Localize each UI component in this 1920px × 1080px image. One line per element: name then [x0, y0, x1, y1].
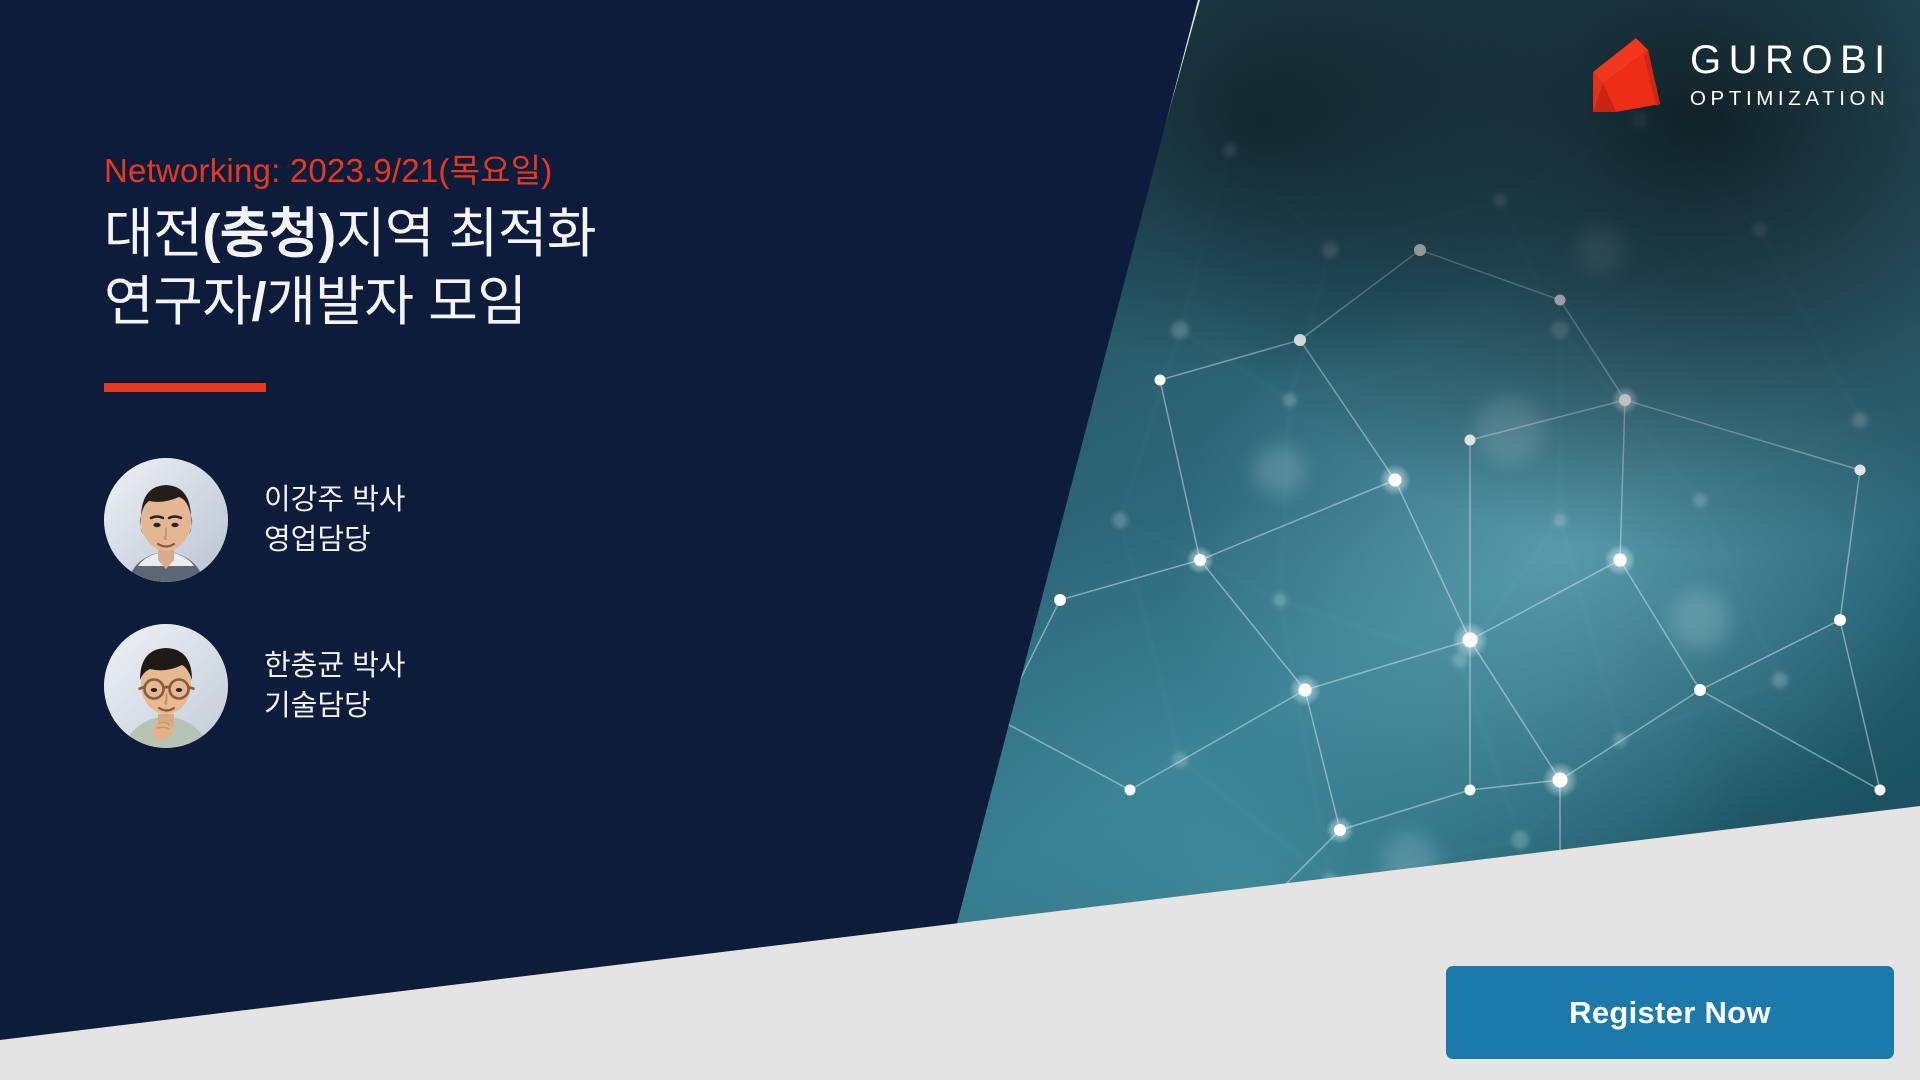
headline-line-1-part-b: (충청): [202, 204, 335, 264]
speaker-role: 영업담당: [264, 520, 405, 560]
list-item: 이강주 박사 영업담당: [104, 458, 405, 582]
speaker-role: 기술담당: [264, 686, 405, 726]
headline-line-1-part-a: 대전: [104, 204, 202, 264]
poster-content: Networking: 2023.9/21(목요일) 대전(충청)지역 최적화 …: [0, 0, 900, 1080]
headline-line-1-part-c: 지역 최적화: [336, 204, 596, 264]
page-title: 대전(충청)지역 최적화 연구자/개발자 모임: [104, 200, 864, 336]
accent-rule: [104, 383, 266, 392]
brand-logo: GUROBI OPTIMIZATION: [1586, 32, 1893, 118]
speaker-list: 이강주 박사 영업담당: [104, 458, 405, 790]
speaker-name: 이강주 박사: [264, 480, 405, 520]
logo-tagline: OPTIMIZATION: [1690, 89, 1893, 110]
headline-line-2-part-a: 연구자: [104, 272, 252, 332]
headline-line-2-part-c: 개발자 모임: [266, 272, 526, 332]
speaker-info: 이강주 박사 영업담당: [264, 480, 405, 560]
register-now-button[interactable]: Register Now: [1446, 966, 1894, 1059]
event-poster: Networking: 2023.9/21(목요일) 대전(충청)지역 최적화 …: [0, 0, 1920, 1080]
list-item: 한충균 박사 기술담당: [104, 624, 405, 748]
headline-line-2-part-b: /: [252, 272, 267, 332]
logo-wordmark: GUROBI OPTIMIZATION: [1690, 40, 1893, 110]
gurobi-prism-icon: [1586, 32, 1672, 118]
event-kicker: Networking: 2023.9/21(목요일): [104, 144, 552, 192]
logo-name: GUROBI: [1690, 40, 1893, 80]
speaker-info: 한충균 박사 기술담당: [264, 646, 405, 726]
avatar: [104, 458, 228, 582]
avatar: [104, 624, 228, 748]
speaker-name: 한충균 박사: [264, 646, 405, 686]
